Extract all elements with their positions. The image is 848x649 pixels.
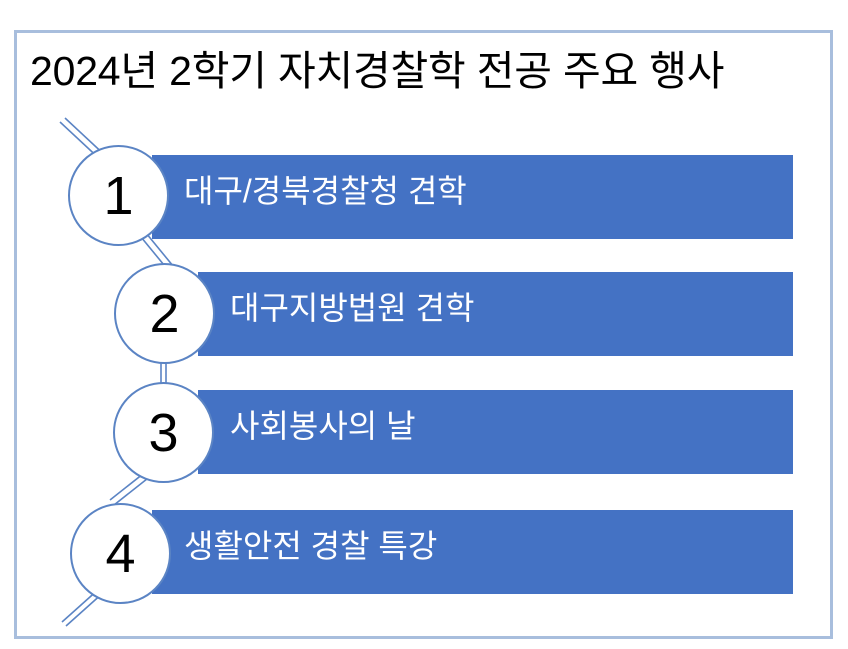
step-number: 1 — [70, 147, 167, 244]
step-number: 4 — [72, 505, 169, 602]
step-number-circle[interactable]: 4 — [70, 503, 171, 604]
step-label: 대구/경북경찰청 견학 — [184, 175, 467, 207]
step-label: 대구지방법원 견학 — [230, 292, 474, 324]
page-title: 2024년 2학기 자치경찰학 전공 주요 행사 — [30, 40, 820, 102]
step-number: 3 — [115, 384, 212, 481]
step-number-circle[interactable]: 1 — [68, 145, 169, 246]
step-label: 사회봉사의 날 — [230, 410, 416, 442]
step-label: 생활안전 경찰 특강 — [184, 530, 437, 562]
slide-canvas: 2024년 2학기 자치경찰학 전공 주요 행사 대구/경북경찰청 견학 1 — [0, 0, 848, 649]
step-number-circle[interactable]: 2 — [114, 263, 215, 364]
step-number: 2 — [116, 265, 213, 362]
step-number-circle[interactable]: 3 — [113, 382, 214, 483]
